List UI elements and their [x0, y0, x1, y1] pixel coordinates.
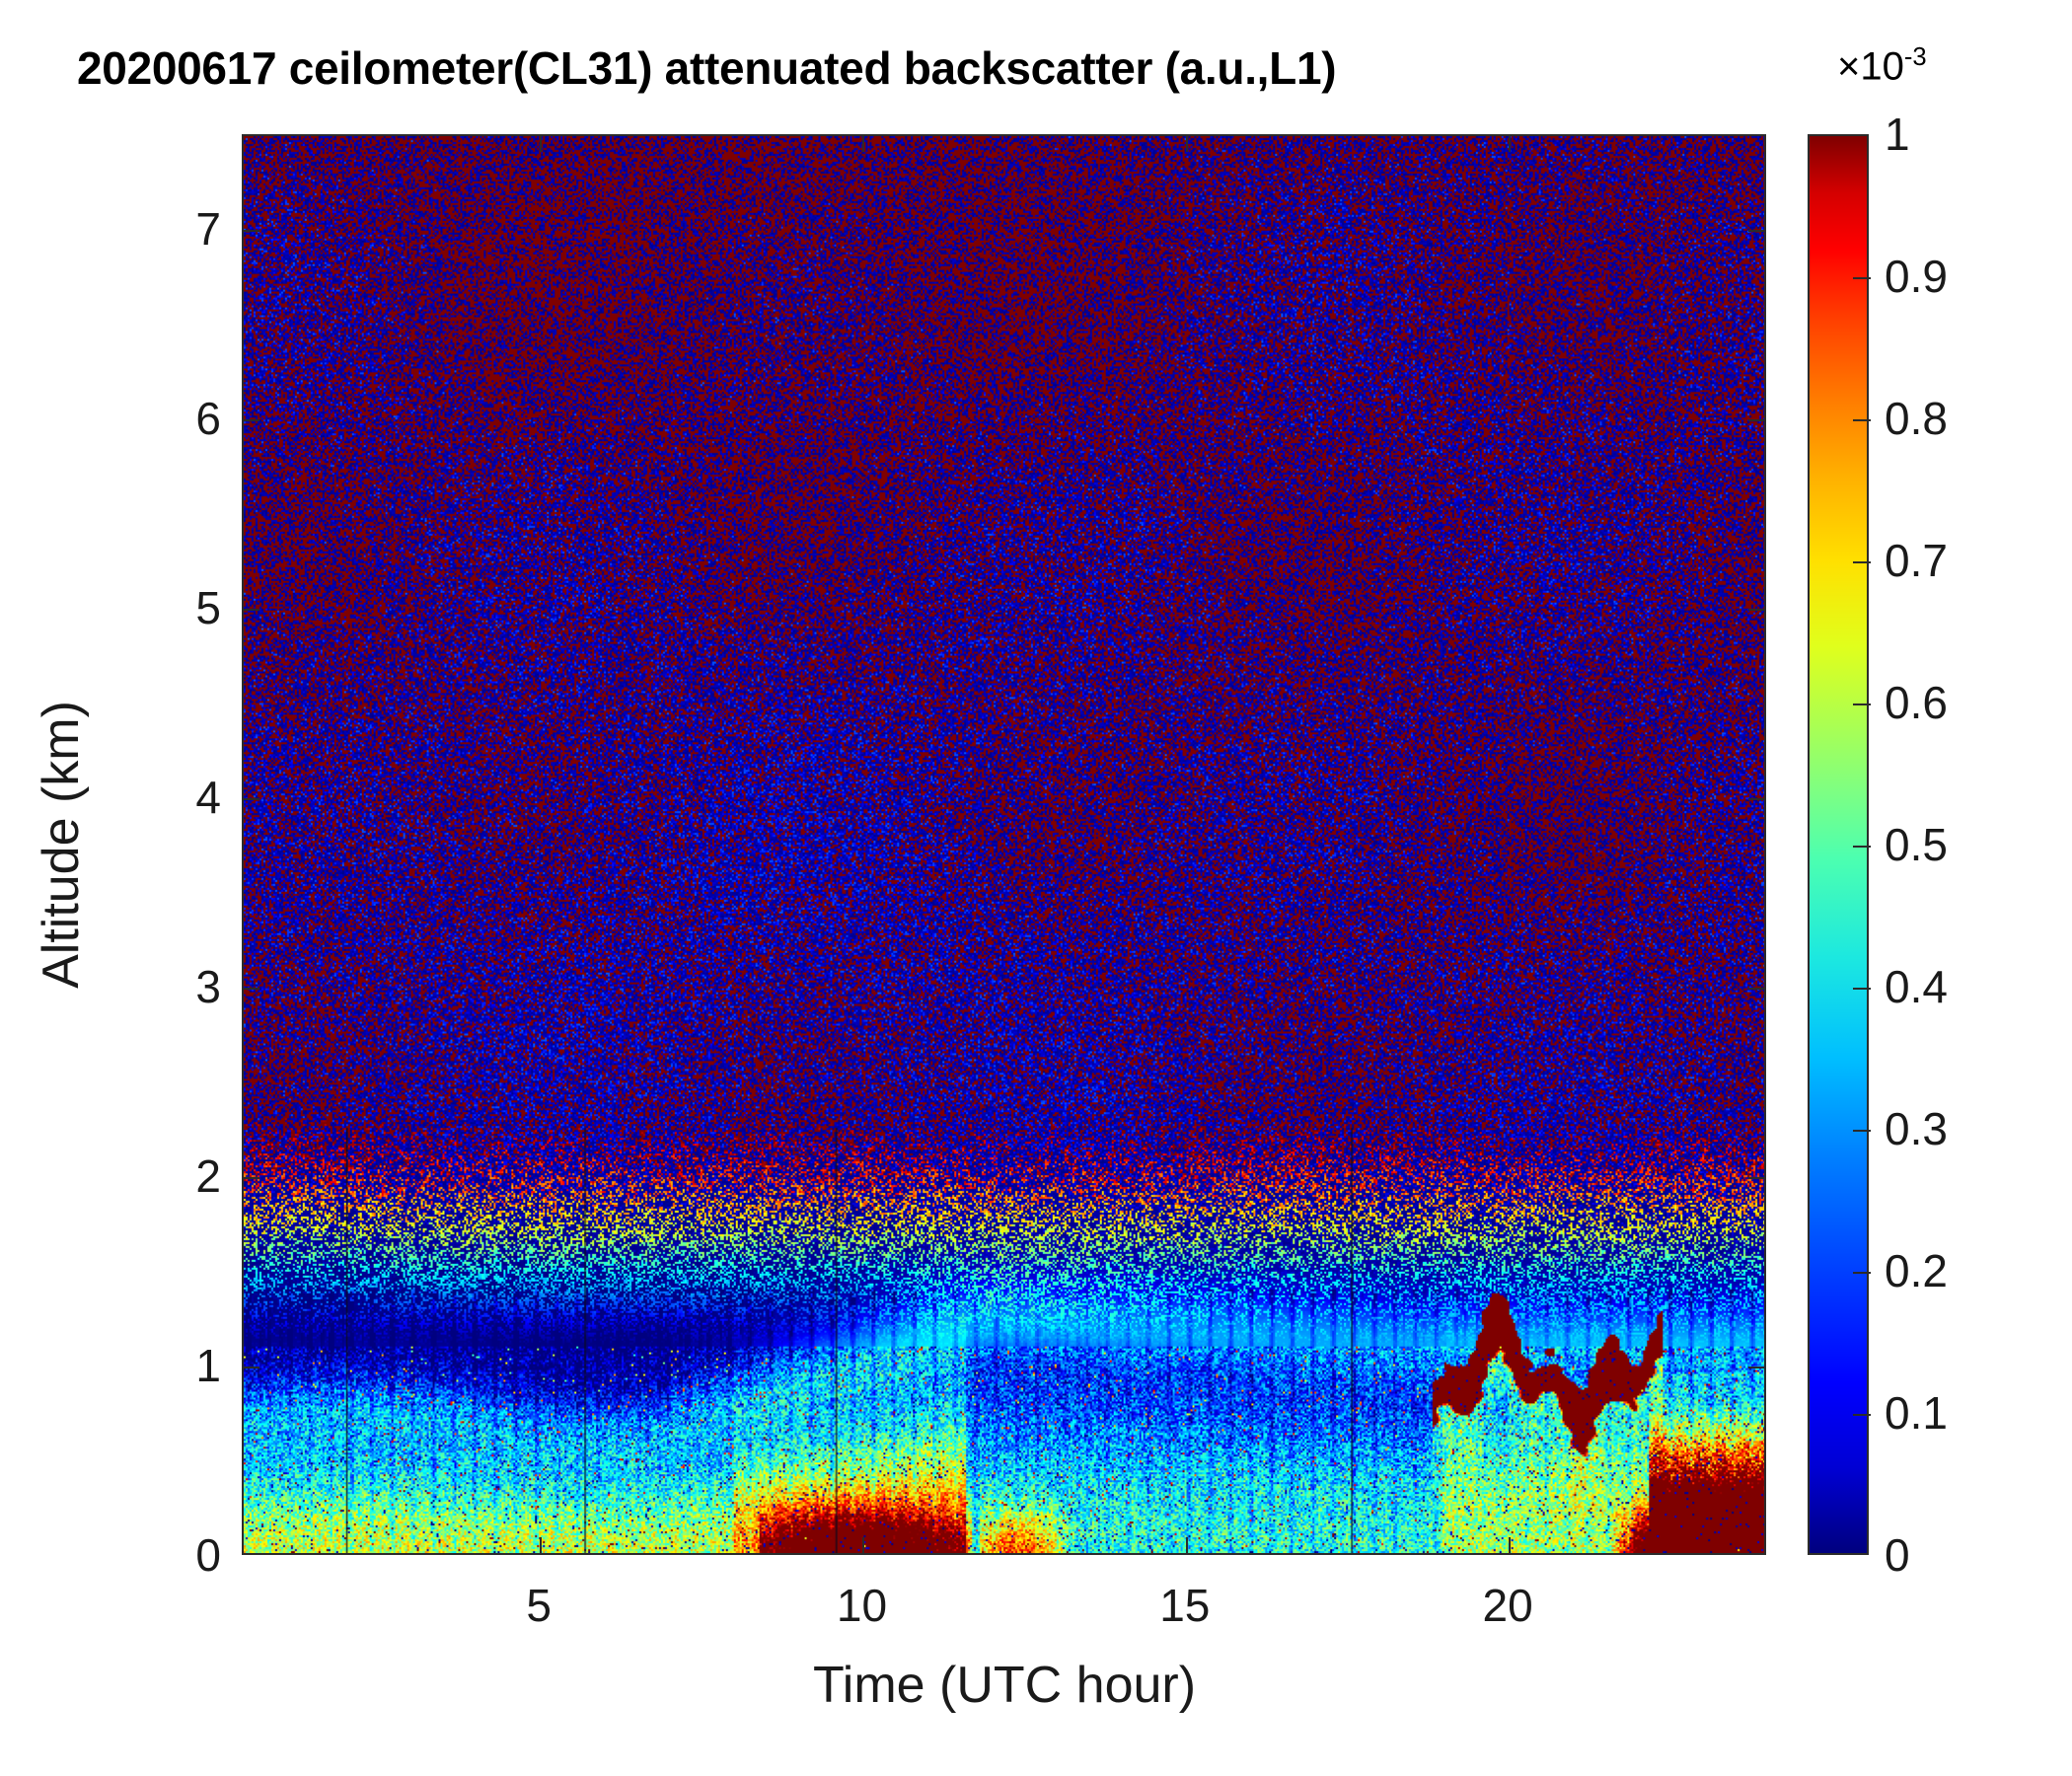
y-axis-tick-label: 5: [103, 581, 221, 634]
y-axis-tick-label: 0: [103, 1528, 221, 1582]
colorbar-tick-label: 0.3: [1885, 1102, 1948, 1155]
y-axis-tick-right: [244, 419, 259, 421]
y-axis-tick: [1748, 419, 1764, 421]
y-axis-tick-right: [244, 798, 259, 800]
y-axis-tick: [1748, 230, 1764, 232]
y-axis-tick-label: 7: [103, 202, 221, 256]
colorbar-tick: [1853, 419, 1871, 421]
colorbar-tick-label: 0.7: [1885, 534, 1948, 587]
colorbar-tick: [1853, 846, 1871, 848]
x-axis-tick: [540, 1537, 542, 1553]
y-axis-tick-right: [244, 1177, 259, 1179]
colorbar-tick-label: 0.1: [1885, 1386, 1948, 1440]
colorbar-tick-label: 0.4: [1885, 960, 1948, 1013]
colorbar-exponent-label: ×10-3: [1837, 43, 1927, 89]
colorbar-tick-label: 1: [1885, 108, 1910, 161]
colorbar-tick: [1853, 703, 1871, 705]
x-axis-tick-top: [1186, 136, 1188, 152]
y-axis-tick-right: [244, 609, 259, 611]
y-axis-tick: [1748, 988, 1764, 990]
colorbar-tick-label: 0.9: [1885, 250, 1948, 303]
y-axis-tick-label: 6: [103, 392, 221, 445]
colorbar[interactable]: [1808, 134, 1869, 1555]
y-axis-tick: [1748, 798, 1764, 800]
colorbar-tick-label: 0.8: [1885, 392, 1948, 445]
colorbar-tick: [1853, 1272, 1871, 1274]
colorbar-tick: [1853, 1130, 1871, 1132]
colorbar-tick-label: 0.2: [1885, 1244, 1948, 1297]
y-axis-tick-right: [244, 1367, 259, 1369]
colorbar-tick-label: 0: [1885, 1528, 1910, 1582]
x-axis-title: Time (UTC hour): [813, 1656, 1196, 1715]
chart-title: 20200617 ceilometer(CL31) attenuated bac…: [77, 41, 1336, 95]
colorbar-tick: [1853, 561, 1871, 563]
colorbar-tick: [1853, 277, 1871, 279]
x-axis-tick-label: 5: [460, 1579, 618, 1632]
x-axis-tick-label: 10: [782, 1579, 940, 1632]
colorbar-tick-label: 0.5: [1885, 818, 1948, 871]
x-axis-tick: [1186, 1537, 1188, 1553]
y-axis-tick-right: [244, 988, 259, 990]
y-axis-tick-right: [244, 230, 259, 232]
x-axis-tick: [1509, 1537, 1511, 1553]
y-axis-tick-label: 1: [103, 1339, 221, 1392]
colorbar-tick: [1853, 1414, 1871, 1416]
colorbar-tick-label: 0.6: [1885, 676, 1948, 729]
y-axis-tick-label: 3: [103, 960, 221, 1013]
colorbar-tick: [1853, 988, 1871, 990]
x-axis-tick: [862, 1537, 864, 1553]
x-axis-tick-label: 15: [1106, 1579, 1264, 1632]
x-axis-tick-top: [540, 136, 542, 152]
colorbar-exponent-base: ×10: [1837, 44, 1904, 88]
heatmap-plot-area[interactable]: [242, 134, 1766, 1555]
y-axis-tick-label: 2: [103, 1149, 221, 1203]
x-axis-tick-top: [1509, 136, 1511, 152]
x-axis-tick-label: 20: [1429, 1579, 1587, 1632]
y-axis-tick: [1748, 1367, 1764, 1369]
heatmap-canvas: [244, 136, 1764, 1553]
y-axis-title: Altitude (km): [32, 701, 91, 989]
x-axis-tick-top: [862, 136, 864, 152]
y-axis-tick: [1748, 1177, 1764, 1179]
colorbar-exponent-power: -3: [1904, 43, 1927, 71]
y-axis-tick: [1748, 609, 1764, 611]
y-axis-tick-label: 4: [103, 771, 221, 824]
